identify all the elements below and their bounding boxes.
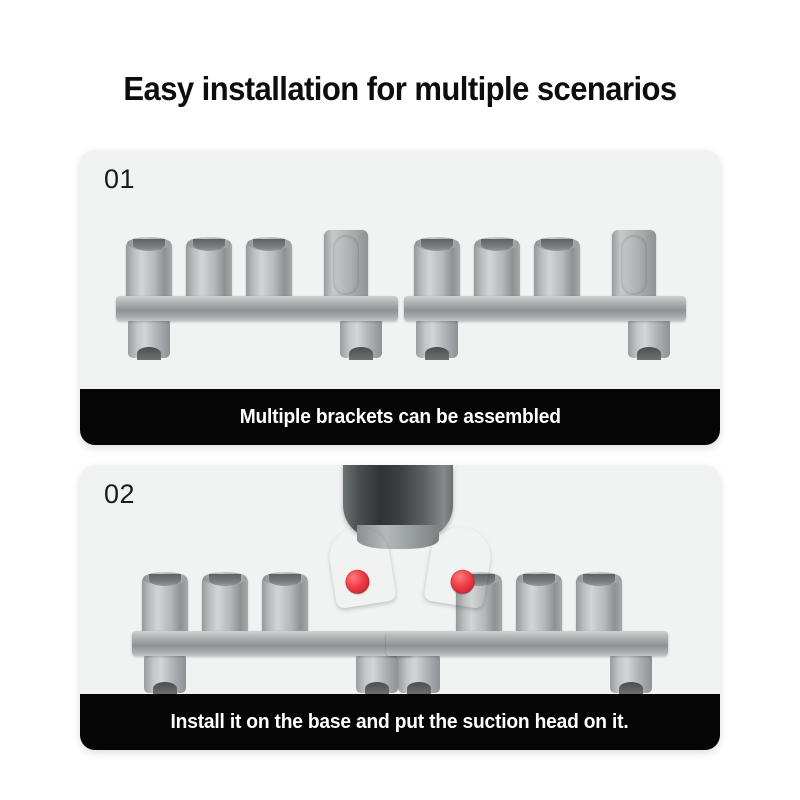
step-number-01: 01 — [104, 164, 135, 195]
bracket-leg — [398, 653, 440, 693]
caption-bar-02: Install it on the base and put the sucti… — [80, 694, 720, 750]
caption-text-02: Install it on the base and put the sucti… — [171, 711, 629, 734]
bracket-leg — [628, 318, 670, 358]
socket-cylinder — [534, 240, 580, 302]
bracket-rail — [404, 296, 686, 321]
bracket-leg — [610, 653, 652, 693]
page-title: Easy installation for multiple scenarios — [24, 70, 776, 108]
socket-cylinder — [414, 240, 460, 302]
bracket-leg — [356, 653, 398, 693]
red-release-button — [344, 568, 371, 595]
bracket-leg — [340, 318, 382, 358]
bracket-assembly-left — [112, 228, 402, 358]
bracket-rail — [132, 631, 414, 656]
bracket-leg — [144, 653, 186, 693]
bracket-leg — [128, 318, 170, 358]
caption-bar-01: Multiple brackets can be assembled — [80, 389, 720, 445]
step-card-02: 02 — [80, 465, 720, 750]
bracket-rail — [116, 296, 398, 321]
caption-text-01: Multiple brackets can be assembled — [239, 406, 560, 429]
socket-cylinder — [142, 575, 188, 637]
bracket-rail — [386, 631, 668, 656]
socket-cylinder — [126, 240, 172, 302]
socket-cylinder — [474, 240, 520, 302]
red-capsule — [333, 235, 359, 295]
socket-cylinder — [516, 575, 562, 637]
red-capsule-module — [612, 230, 656, 302]
bracket-leg — [416, 318, 458, 358]
step-number-02: 02 — [104, 479, 135, 510]
red-capsule — [621, 235, 647, 295]
vacuum-suction-head — [295, 465, 505, 615]
socket-cylinder — [202, 575, 248, 637]
step-card-01: 01 Multiple brackets c — [80, 150, 720, 445]
bracket-assembly-right — [400, 228, 690, 358]
red-capsule-module — [324, 230, 368, 302]
socket-cylinder — [576, 575, 622, 637]
socket-cylinder — [186, 240, 232, 302]
red-release-button — [449, 568, 476, 595]
socket-cylinder — [246, 240, 292, 302]
